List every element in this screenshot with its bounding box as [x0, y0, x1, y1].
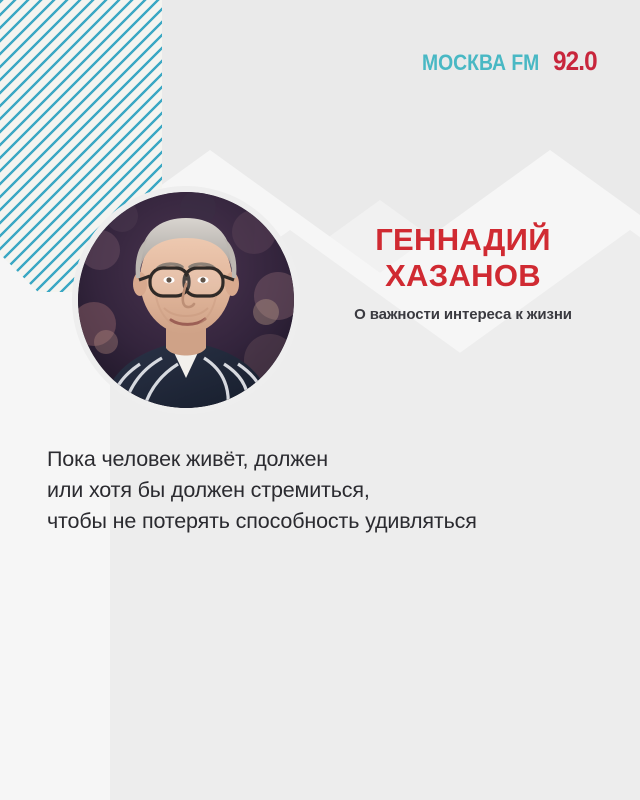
quote-line: или хотя бы должен стремиться,	[47, 475, 477, 506]
speaker-portrait	[78, 192, 294, 408]
quote-line: Пока человек живёт, должен	[47, 444, 477, 475]
quote-card: МОСКВА FM 92.0	[0, 0, 640, 800]
speaker-subtitle: О важности интереса к жизни	[318, 306, 608, 323]
logo-frequency: 92.0	[553, 46, 597, 77]
speaker-last-name: ХАЗАНОВ	[318, 258, 608, 294]
speaker-name-block: ГЕННАДИЙ ХАЗАНОВ О важности интереса к ж…	[318, 222, 608, 323]
quote-text: Пока человек живёт, должен или хотя бы д…	[47, 444, 477, 537]
station-logo: МОСКВА FM 92.0	[422, 46, 602, 77]
speaker-first-name: ГЕННАДИЙ	[318, 222, 608, 258]
quote-line: чтобы не потерять способность удивляться	[47, 506, 477, 537]
logo-station-name: МОСКВА FM	[422, 50, 539, 76]
